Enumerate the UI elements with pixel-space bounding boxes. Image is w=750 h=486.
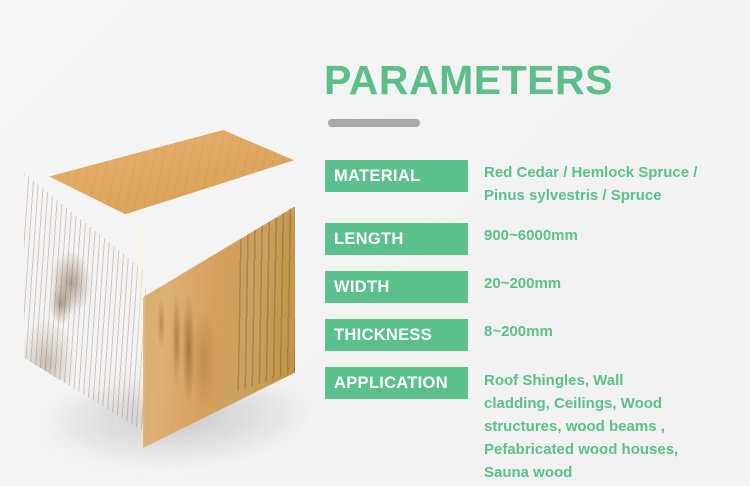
specs-panel: PARAMETERS MATERIAL Red Cedar / Hemlock … bbox=[312, 0, 750, 486]
spec-value-application: Roof Shingles, Wall cladding, Ceilings, … bbox=[484, 367, 678, 484]
spec-label-thickness: THICKNESS bbox=[325, 319, 468, 351]
spec-row-width: WIDTH 20~200mm bbox=[325, 271, 750, 303]
page-title: PARAMETERS bbox=[324, 57, 613, 104]
cube-right-face bbox=[143, 188, 295, 448]
spec-label-length: LENGTH bbox=[325, 223, 468, 255]
spec-row-thickness: THICKNESS 8~200mm bbox=[325, 319, 750, 351]
spec-value-thickness: 8~200mm bbox=[484, 319, 553, 343]
title-divider bbox=[328, 119, 420, 127]
spec-row-application: APPLICATION Roof Shingles, Wall cladding… bbox=[325, 367, 750, 484]
spec-label-application: APPLICATION bbox=[325, 367, 468, 399]
wood-cube bbox=[0, 122, 320, 462]
cube-edge-highlight bbox=[138, 226, 144, 449]
spec-value-width: 20~200mm bbox=[484, 271, 561, 295]
product-image bbox=[0, 122, 320, 472]
parameters-banner: PARAMETERS MATERIAL Red Cedar / Hemlock … bbox=[0, 0, 750, 486]
spec-row-material: MATERIAL Red Cedar / Hemlock Spruce / Pi… bbox=[325, 160, 750, 207]
spec-value-material: Red Cedar / Hemlock Spruce / Pinus sylve… bbox=[484, 160, 697, 207]
spec-label-width: WIDTH bbox=[325, 271, 468, 303]
spec-label-material: MATERIAL bbox=[325, 160, 468, 192]
spec-value-length: 900~6000mm bbox=[484, 223, 578, 247]
spec-table: MATERIAL Red Cedar / Hemlock Spruce / Pi… bbox=[325, 160, 750, 484]
spec-row-length: LENGTH 900~6000mm bbox=[325, 223, 750, 255]
